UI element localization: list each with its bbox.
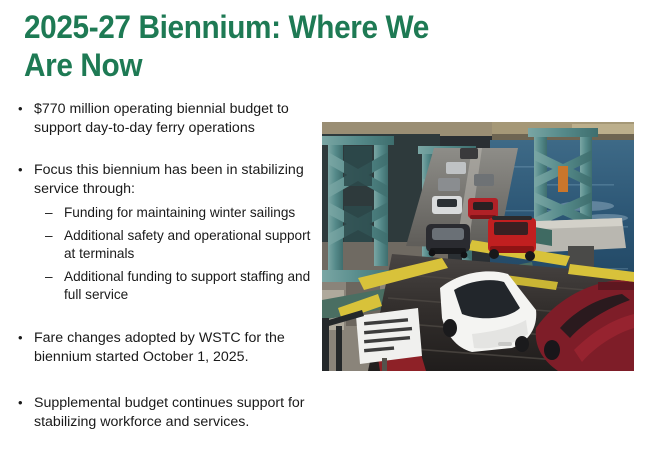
sub-list-item: – Additional funding to support staffing…	[0, 268, 320, 304]
dash-marker-icon: –	[45, 204, 53, 222]
bullet-marker-icon: •	[18, 160, 23, 179]
bullet-marker-icon: •	[18, 99, 23, 118]
sub-list-item-label: Additional safety and operational suppor…	[64, 228, 310, 261]
list-item-label: Fare changes adopted by WSTC for the bie…	[34, 330, 285, 365]
list-item-label: $770 million operating biennial budget t…	[34, 101, 289, 136]
list-item: • $770 million operating biennial budget…	[0, 100, 320, 138]
sub-list-item-label: Additional funding to support staffing a…	[64, 269, 310, 302]
dash-marker-icon: –	[45, 227, 53, 245]
list-item: • Supplemental budget continues support …	[0, 394, 320, 432]
slide-canvas: 2025-27 Biennium: Where We Are Now • $77…	[0, 0, 652, 459]
dash-marker-icon: –	[45, 268, 53, 286]
bullet-marker-icon: •	[18, 393, 23, 412]
list-item-label: Supplemental budget continues support fo…	[34, 395, 305, 430]
body-content: • $770 million operating biennial budget…	[0, 100, 320, 455]
list-item-label: Focus this biennium has been in stabiliz…	[34, 162, 304, 197]
sub-list-item: – Additional safety and operational supp…	[0, 227, 320, 263]
sub-list-item-label: Funding for maintaining winter sailings	[64, 205, 295, 220]
sub-list-item: – Funding for maintaining winter sailing…	[0, 204, 320, 222]
list-item: • Focus this biennium has been in stabil…	[0, 161, 320, 199]
list-item: • Fare changes adopted by WSTC for the b…	[0, 329, 320, 367]
sub-list: – Funding for maintaining winter sailing…	[0, 204, 320, 304]
page-title: 2025-27 Biennium: Where We Are Now	[24, 8, 582, 84]
bullet-marker-icon: •	[18, 328, 23, 347]
ferry-loading-ramp-photo	[322, 122, 634, 371]
